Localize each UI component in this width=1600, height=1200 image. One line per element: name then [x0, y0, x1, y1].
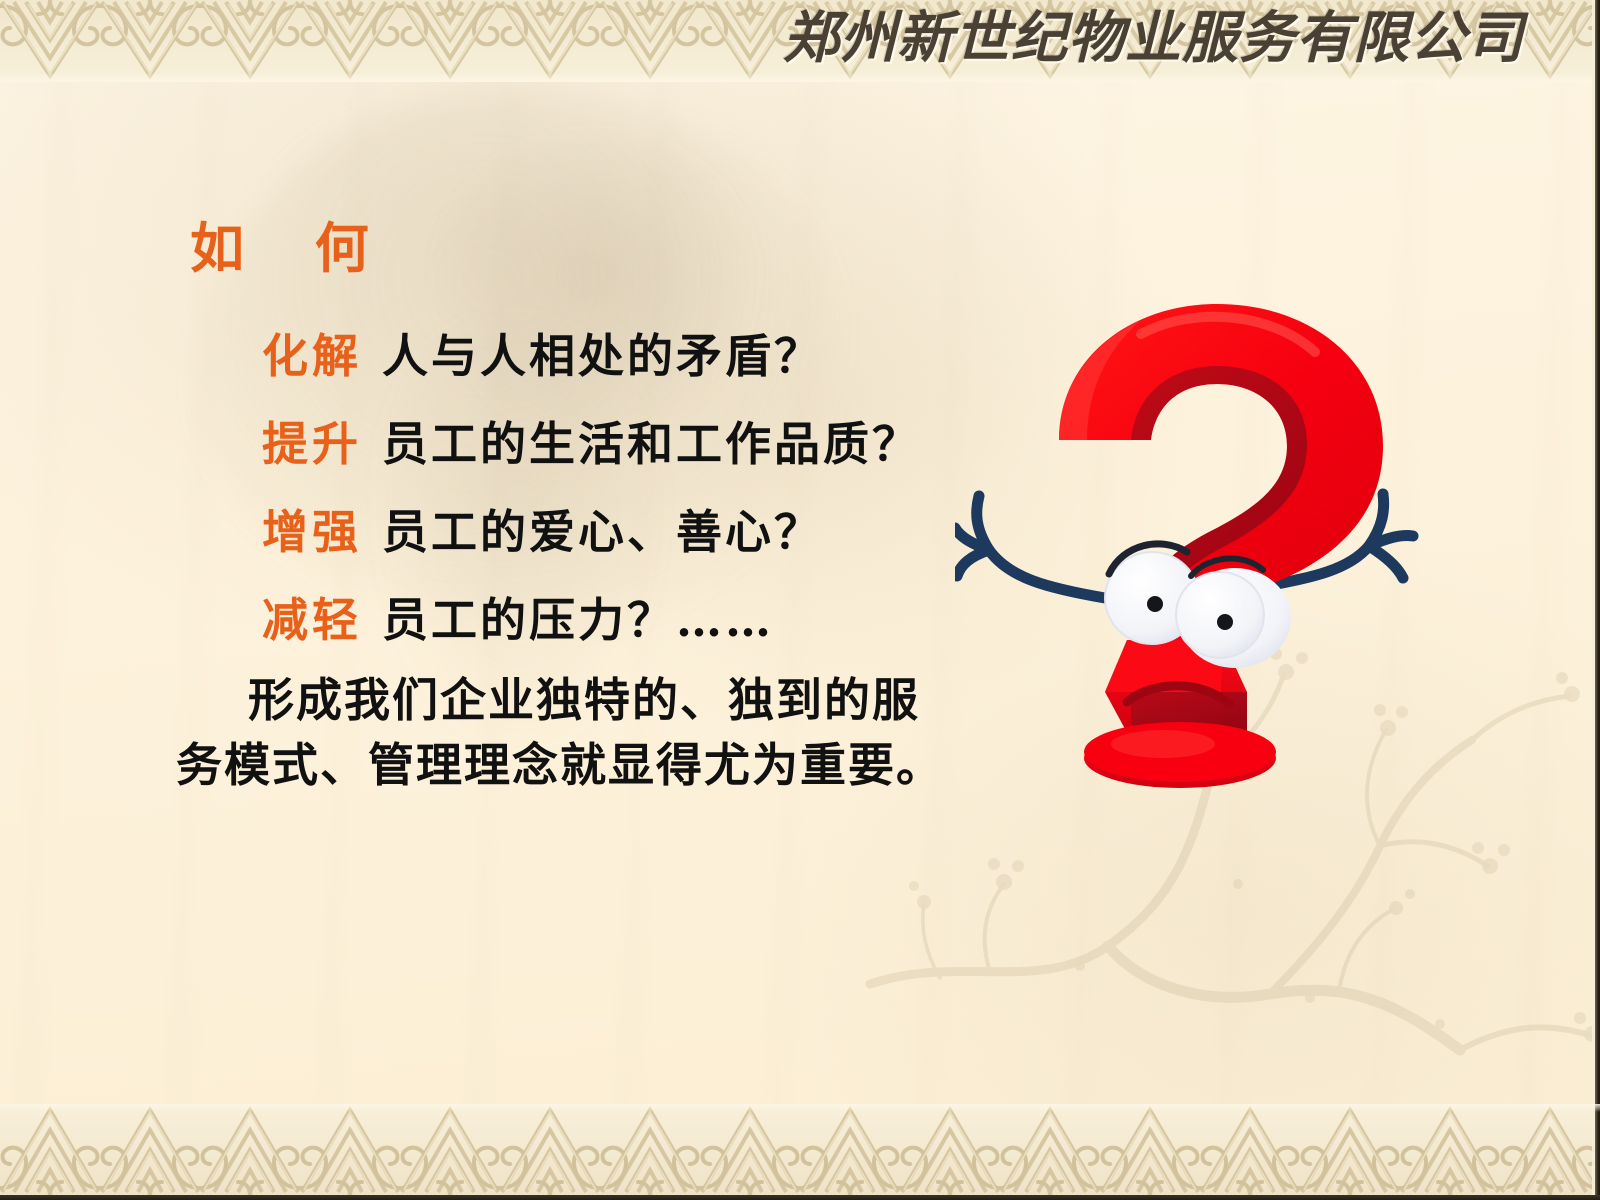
question-text: 员工的压力？…… — [382, 593, 774, 647]
question-item: 提升员工的生活和工作品质？ — [262, 400, 1022, 488]
question-list: 化解人与人相处的矛盾？ 提升员工的生活和工作品质？ 增强员工的爱心、善心？ 减轻… — [262, 312, 1022, 664]
presentation-slide: 郑州新世纪物业服务有限公司 如 何 化解人与人相处的矛盾？ 提升员工的生活和工作… — [0, 0, 1600, 1200]
question-item: 减轻员工的压力？…… — [262, 576, 1022, 664]
question-keyword: 增强 — [262, 505, 382, 559]
question-keyword: 减轻 — [262, 593, 382, 647]
closing-paragraph: 形成我们企业独特的、独到的服务模式、管理理念就显得尤为重要。 — [176, 668, 966, 799]
question-keyword: 提升 — [262, 417, 382, 471]
page-title: 如 何 — [190, 222, 395, 276]
question-text: 员工的生活和工作品质？ — [382, 417, 921, 471]
question-mark-mascot-icon — [955, 288, 1425, 788]
question-keyword: 化解 — [262, 329, 382, 383]
company-title: 郑州新世纪物业服务有限公司 — [783, 2, 1524, 74]
question-text: 人与人相处的矛盾？ — [382, 329, 823, 383]
question-item: 增强员工的爱心、善心？ — [262, 488, 1022, 576]
question-item: 化解人与人相处的矛盾？ — [262, 312, 1022, 400]
question-text: 员工的爱心、善心？ — [382, 505, 823, 559]
